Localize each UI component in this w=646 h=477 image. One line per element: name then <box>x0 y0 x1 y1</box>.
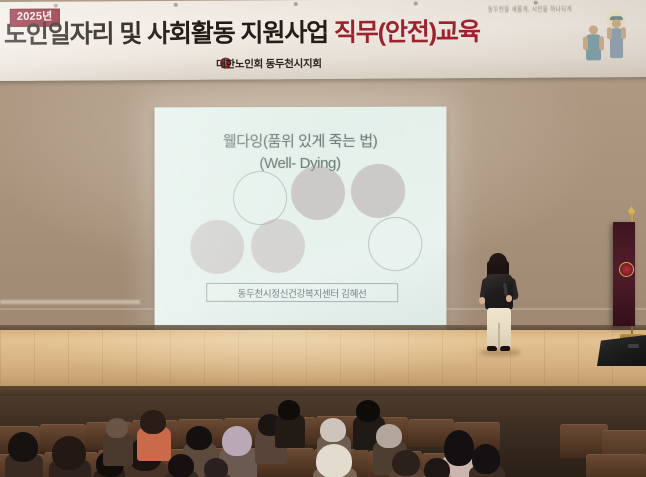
wall-seam-highlight <box>0 300 140 304</box>
slide-presenter-credit-box: 동두천시정신건강복지센터 김혜선 <box>206 283 398 302</box>
audience-member-head <box>106 418 128 438</box>
banner-headline-main: 노인일자리 및 사회활동 지원사업 <box>4 19 334 49</box>
event-banner: 2025년 노인일자리 및 사회활동 지원사업 직무(안전)교육 대한노인회 동… <box>0 0 646 81</box>
projection-screen: 웰다잉(품위 있게 죽는 법) (Well- Dying) 동두천시정신건강복지… <box>155 107 447 332</box>
banner-grommet <box>414 1 418 5</box>
audience-member-head <box>222 426 252 456</box>
banner-headline: 노인일자리 및 사회활동 지원사업 직무(안전)교육 <box>4 19 524 50</box>
slide-circle-1 <box>233 171 287 225</box>
slide-circle-2 <box>291 166 345 220</box>
audience-member-head <box>392 450 420 476</box>
audience-member-head <box>168 454 194 477</box>
audience-member-head <box>316 444 352 477</box>
auditorium-seat <box>586 454 646 477</box>
audience-member-head <box>320 418 346 442</box>
banner-grommet <box>54 4 58 8</box>
presenter-hand-right <box>506 295 512 302</box>
presenter-hand-left <box>479 297 485 304</box>
auditorium-seating-area <box>0 396 646 477</box>
presenter-shoe-right <box>500 346 510 351</box>
audience-member-head <box>472 444 500 474</box>
auditorium-seat <box>560 424 608 458</box>
slide-circle-3 <box>351 164 405 218</box>
slide-presenter-credit: 동두천시정신건강복지센터 김혜선 <box>238 285 367 299</box>
audience-member-head <box>376 424 402 448</box>
audience-member-head <box>140 410 166 434</box>
presenter-blouse <box>485 274 513 310</box>
audience-member-head <box>186 426 212 450</box>
presenter-hair <box>489 253 507 276</box>
audience-member-head <box>8 432 38 462</box>
banner-character-left-icon <box>586 25 601 60</box>
audience-member-head <box>444 430 474 466</box>
banner-character-right-icon <box>610 16 623 58</box>
flag-emblem-icon <box>619 262 634 277</box>
audience-member-head <box>204 458 228 477</box>
slide-circle-6 <box>368 217 422 271</box>
speaker-handle <box>628 344 639 348</box>
banner-headline-accent: 직무(안전)교육 <box>334 18 480 47</box>
banner-grommet <box>294 2 298 6</box>
banner-organization: 대한노인회 동두천시지회 <box>216 56 322 72</box>
lecture-hall-photo: 2025년 노인일자리 및 사회활동 지원사업 직무(안전)교육 대한노인회 동… <box>0 0 646 477</box>
audience-member-head <box>356 400 380 422</box>
presenter-shoe-left <box>487 346 497 351</box>
presenter-leg-gap <box>498 323 500 348</box>
banner-slogan: 동두천을 새롭게, 시민을 하나되게 <box>488 4 572 14</box>
audience-member-head <box>52 436 86 470</box>
audience-member-head <box>424 458 450 477</box>
slide-circle-5 <box>251 219 305 273</box>
slide-circle-4 <box>190 220 244 274</box>
banner-grommet <box>174 3 178 7</box>
audience-member-head <box>278 400 300 420</box>
